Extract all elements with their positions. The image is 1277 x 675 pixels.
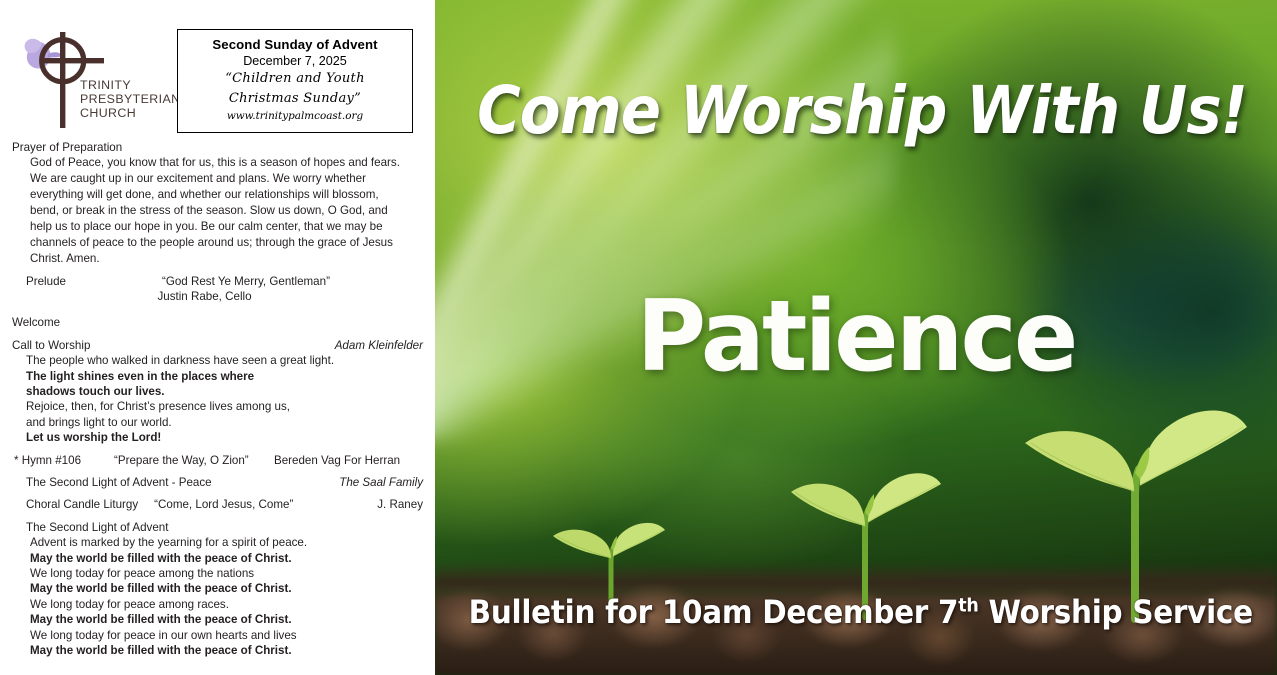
- choral-candle-liturgy-row: Choral Candle Liturgy “Come, Lord Jesus,…: [12, 497, 423, 512]
- spacer: [12, 331, 423, 338]
- church-name-line-1: TRINITY: [80, 78, 181, 92]
- seedling-large: [995, 369, 1265, 619]
- second-light-peace-family: The Saal Family: [339, 475, 423, 490]
- word-overlay-patience: Patience: [448, 288, 1265, 386]
- church-logo: TRINITY PRESBYTERIAN CHURCH: [18, 26, 178, 132]
- call-to-worship-label: Call to Worship: [12, 338, 90, 353]
- liturgy-line: We long today for peace in our own heart…: [12, 628, 423, 643]
- liturgy-line: We long today for peace among races.: [12, 597, 423, 612]
- spacer: [12, 446, 423, 453]
- church-name: TRINITY PRESBYTERIAN CHURCH: [80, 78, 181, 120]
- order-of-service: Prayer of Preparation God of Peace, you …: [0, 140, 435, 658]
- liturgy-line: May the world be filled with the peace o…: [12, 643, 423, 658]
- prelude-label: Prelude: [26, 275, 66, 288]
- seedling-medium: [765, 432, 965, 617]
- bulletin-caption: Bulletin for 10am December 7th Worship S…: [469, 593, 1244, 631]
- service-theme-line-2: Christmas Sunday”: [178, 90, 412, 108]
- advent-sunday-title: Second Sunday of Advent: [178, 37, 412, 52]
- service-info-box: Second Sunday of Advent December 7, 2025…: [177, 29, 413, 133]
- liturgy-line: May the world be filled with the peace o…: [12, 551, 423, 566]
- hymn-tune: Bereden Vag For Herran: [274, 454, 400, 467]
- church-name-line-3: CHURCH: [80, 106, 181, 120]
- prelude-performer: Justin Rabe, Cello: [12, 289, 423, 304]
- liturgy-line: May the world be filled with the peace o…: [12, 581, 423, 596]
- second-light-heading: The Second Light of Advent: [12, 520, 423, 535]
- caption-superscript: th: [958, 594, 978, 616]
- prayer-of-preparation-body: God of Peace, you know that for us, this…: [12, 155, 423, 266]
- service-theme-line-1: “Children and Youth: [178, 70, 412, 88]
- liturgy-line: Advent is marked by the yearning for a s…: [12, 535, 423, 550]
- church-name-line-2: PRESBYTERIAN: [80, 92, 181, 106]
- prelude-title: “God Rest Ye Merry, Gentleman”: [66, 275, 330, 288]
- welcome-label: Welcome: [12, 315, 423, 330]
- service-date: December 7, 2025: [178, 54, 412, 68]
- hymn-title: “Prepare the Way, O Zion”: [114, 453, 274, 468]
- bulletin-page: TRINITY PRESBYTERIAN CHURCH Second Sunda…: [0, 0, 1277, 675]
- prelude-row: Prelude“God Rest Ye Merry, Gentleman”: [12, 274, 423, 289]
- second-light-peace-label: The Second Light of Advent - Peace: [26, 475, 212, 490]
- choral-title: “Come, Lord Jesus, Come”: [154, 497, 293, 512]
- choral-composer: J. Raney: [377, 497, 423, 512]
- headline-come-worship: Come Worship With Us!: [477, 72, 1235, 149]
- call-line: Let us worship the Lord!: [12, 430, 423, 445]
- call-to-worship-leader: Adam Kleinfelder: [335, 338, 423, 353]
- hymn-number: * Hymn #106: [14, 453, 114, 468]
- spacer: [12, 513, 423, 520]
- spacer: [12, 490, 423, 497]
- call-line: Rejoice, then, for Christ’s presence liv…: [12, 399, 423, 414]
- spacer: [12, 304, 423, 315]
- call-line: shadows touch our lives.: [12, 384, 423, 399]
- worship-promo-photo: Come Worship With Us! Patience Bulletin …: [435, 0, 1277, 675]
- liturgy-line: We long today for peace among the nation…: [12, 566, 423, 581]
- call-line: The people who walked in darkness have s…: [12, 353, 423, 368]
- spacer: [12, 468, 423, 475]
- call-line: The light shines even in the places wher…: [12, 369, 423, 384]
- bulletin-left-panel: TRINITY PRESBYTERIAN CHURCH Second Sunda…: [0, 0, 435, 675]
- caption-suffix: Worship Service: [978, 593, 1252, 631]
- liturgy-line: May the world be filled with the peace o…: [12, 612, 423, 627]
- spacer: [12, 267, 423, 274]
- church-website[interactable]: www.trinitypalmcoast.org: [178, 110, 412, 122]
- call-line: and brings light to our world.: [12, 415, 423, 430]
- choral-label: Choral Candle Liturgy: [26, 497, 138, 512]
- second-light-peace-row: The Second Light of Advent - Peace The S…: [12, 475, 423, 490]
- masthead: TRINITY PRESBYTERIAN CHURCH Second Sunda…: [0, 0, 435, 140]
- prayer-of-preparation-heading: Prayer of Preparation: [12, 140, 423, 155]
- caption-prefix: Bulletin for 10am December 7: [469, 593, 959, 631]
- call-to-worship-row: Call to Worship Adam Kleinfelder: [12, 338, 423, 353]
- hymn-row: * Hymn #106“Prepare the Way, O Zion”Bere…: [12, 453, 423, 468]
